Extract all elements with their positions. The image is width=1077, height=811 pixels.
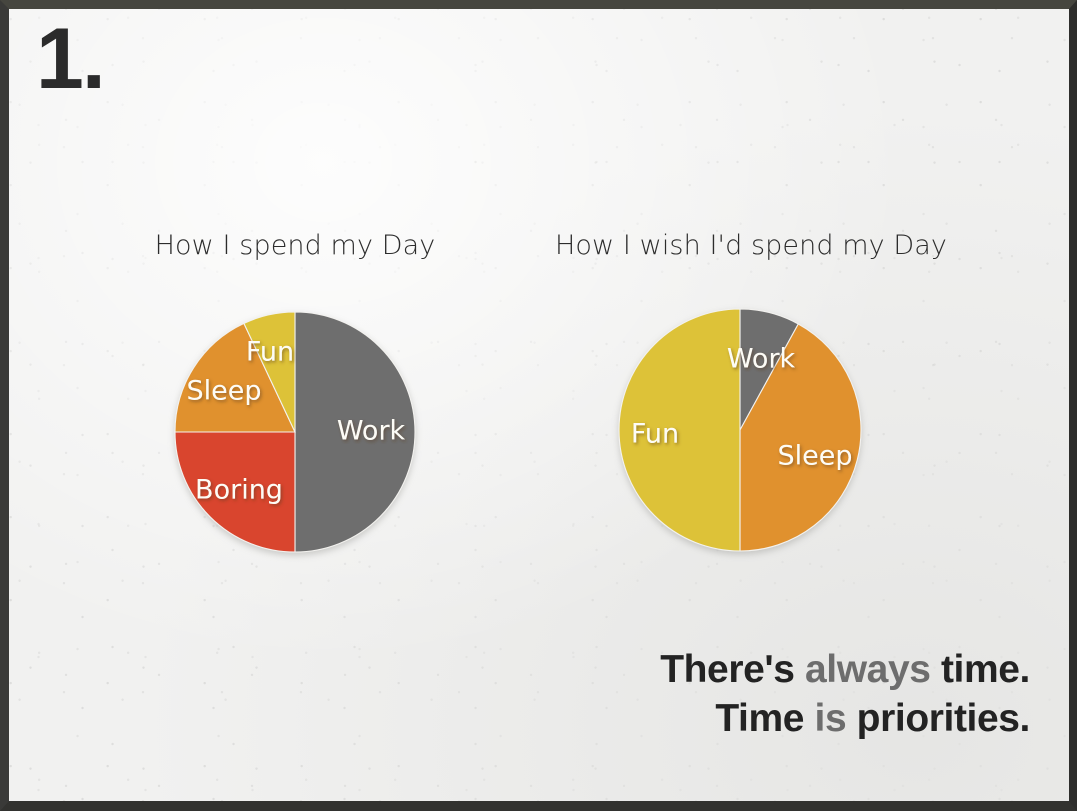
slice-label-work-2: Work — [727, 344, 796, 375]
slice-label-fun-1: Fun — [246, 337, 294, 368]
pie-charts-layer: WorkBoringSleepFunWorkSleepFun — [0, 0, 1077, 811]
slice-label-boring-1: Boring — [195, 475, 283, 506]
slice-label-fun-2: Fun — [631, 419, 679, 450]
slide-content: 1. How I spend my Day How I wish I'd spe… — [0, 0, 1077, 811]
slice-label-work-1: Work — [337, 416, 406, 447]
slice-label-sleep-2: Sleep — [777, 441, 852, 472]
slice-label-sleep-1: Sleep — [186, 376, 261, 407]
slide-canvas: 1. How I spend my Day How I wish I'd spe… — [0, 0, 1077, 811]
